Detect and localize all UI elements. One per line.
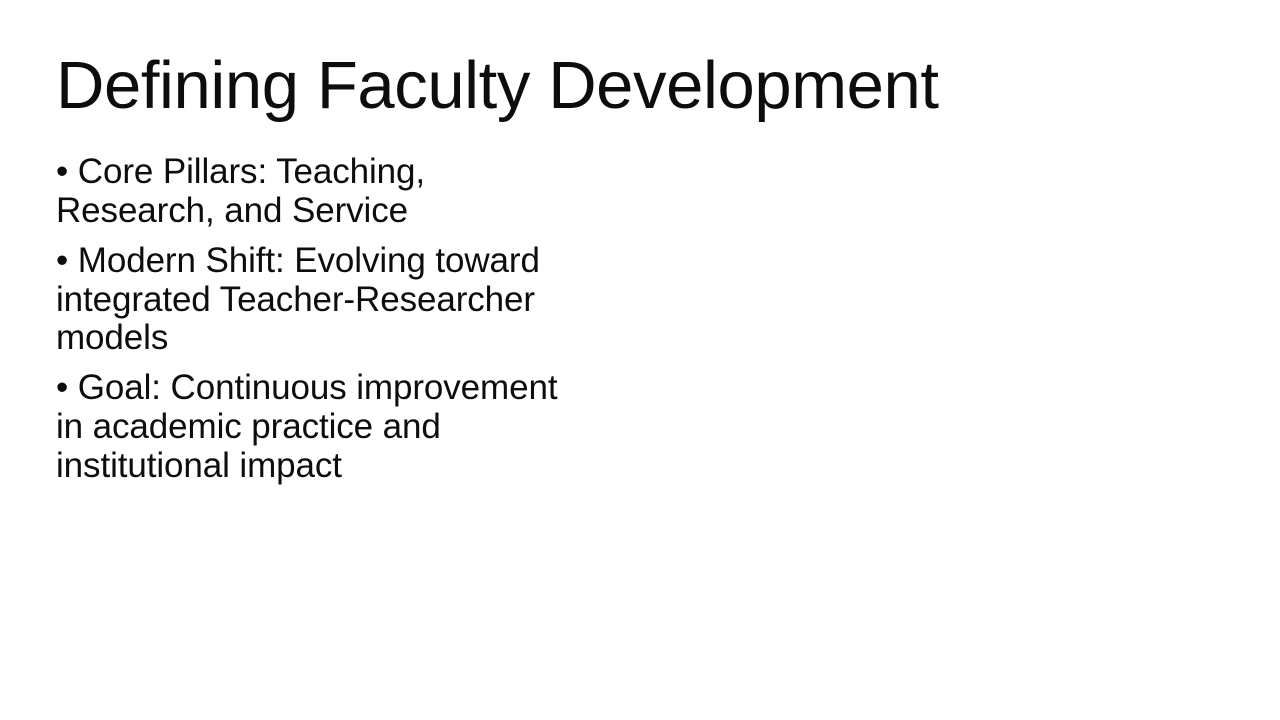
list-item: • Goal: Continuous improvement in academ… bbox=[56, 369, 572, 486]
list-item-label: Core Pillars: Teaching, Research, and Se… bbox=[56, 152, 425, 230]
bullet-icon: • bbox=[56, 368, 68, 407]
list-item-label: Goal: Continuous improvement in academic… bbox=[56, 368, 557, 485]
bullet-icon: • bbox=[56, 241, 68, 280]
bullet-list: • Core Pillars: Teaching, Research, and … bbox=[56, 153, 572, 486]
page-title: Defining Faculty Development bbox=[56, 48, 1216, 123]
list-item: • Core Pillars: Teaching, Research, and … bbox=[56, 153, 572, 231]
list-item: • Modern Shift: Evolving toward integrat… bbox=[56, 242, 572, 359]
bullet-icon: • bbox=[56, 152, 68, 191]
slide-canvas: Defining Faculty Development • Core Pill… bbox=[0, 0, 1280, 720]
list-item-label: Modern Shift: Evolving toward integrated… bbox=[56, 241, 540, 358]
